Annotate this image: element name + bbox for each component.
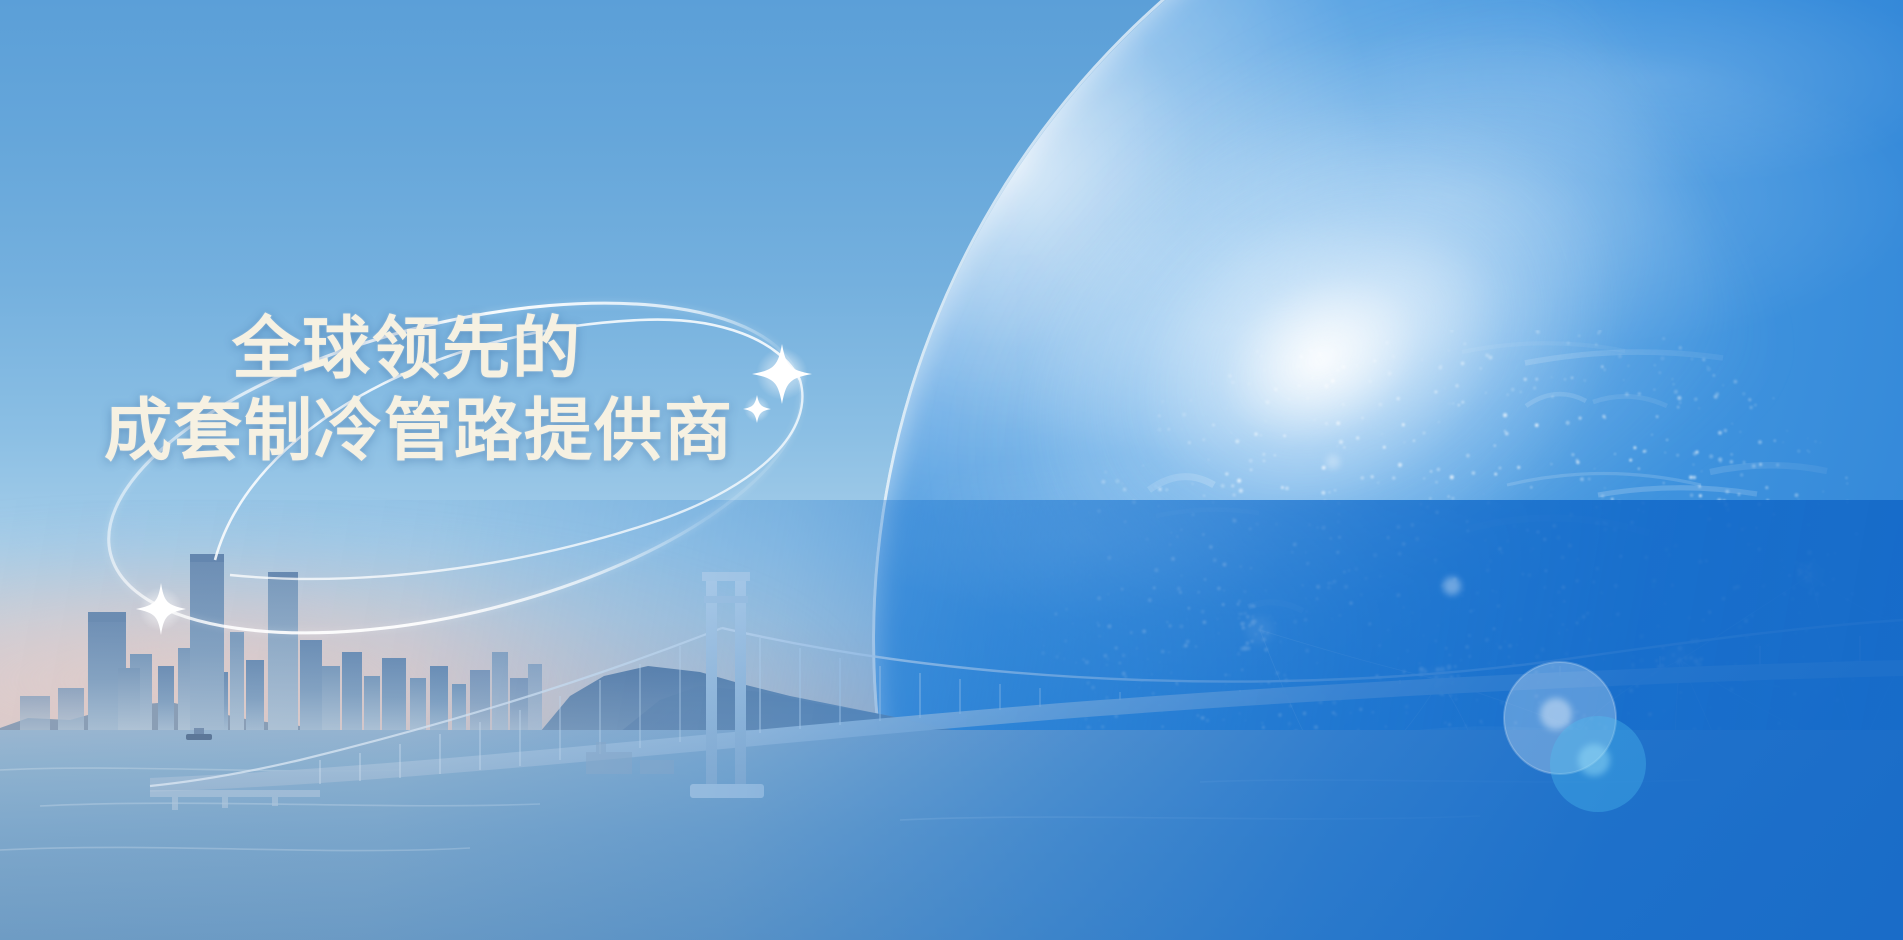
headline-line-1: 全球领先的 (232, 308, 804, 390)
headline-line-2: 成套制冷管路提供商 (104, 390, 804, 472)
hero-banner: 全球领先的 成套制冷管路提供商 (0, 0, 1903, 940)
headline-block: 全球领先的 成套制冷管路提供商 (104, 308, 804, 472)
